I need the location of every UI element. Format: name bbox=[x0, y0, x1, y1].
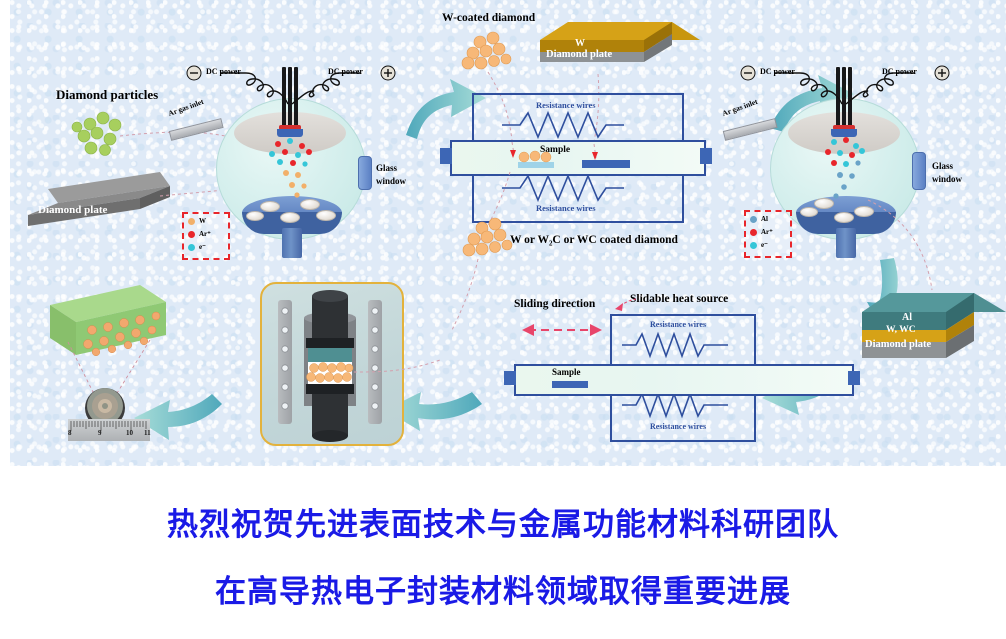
ar-gas-inlet-pipe-right bbox=[723, 118, 778, 141]
ruler bbox=[68, 419, 150, 441]
legend-box-right: Al Ar⁺ e⁻ bbox=[744, 210, 792, 258]
electrode-rod-1-left bbox=[282, 67, 286, 127]
legend-label-right-0: Al bbox=[761, 215, 768, 223]
sample-puck-right-2 bbox=[854, 206, 874, 217]
tube-cap-right-sliding bbox=[848, 371, 860, 385]
legend-item-left-2: e⁻ bbox=[188, 243, 206, 251]
legend-swatch-argon-icon bbox=[188, 231, 195, 238]
sample-puck-right-4 bbox=[800, 207, 818, 217]
diamond-plate-label: Diamond plate bbox=[38, 205, 107, 217]
caption-line-1: 热烈祝贺先进表面技术与金属功能材料科研团队 bbox=[167, 499, 839, 544]
dc-power-label-right-negative: DC power bbox=[760, 68, 795, 76]
sample-label-center: Sample bbox=[540, 146, 570, 156]
electrode-rod-2-right bbox=[842, 67, 846, 127]
glass-window-label-right-line2: window bbox=[932, 175, 962, 184]
arrow-right-to-plate bbox=[867, 258, 907, 334]
diamond-plate-label-right: Diamond plate bbox=[865, 339, 931, 350]
resistance-wires-top-label-sliding: Resistance wires bbox=[650, 320, 706, 329]
w-coated-diamond-label: W-coated diamond bbox=[442, 12, 535, 24]
dc-power-label-left-positive: DC power bbox=[328, 68, 363, 76]
w-wc-layer-label: W, WC bbox=[886, 326, 916, 336]
al-layer-label: Al bbox=[902, 313, 912, 324]
electrode-rod-2-left bbox=[288, 67, 292, 127]
legend-swatch-electron-right-icon bbox=[750, 242, 757, 249]
w-layer-label: W bbox=[575, 39, 585, 50]
electrode-tip-blue-right bbox=[831, 129, 857, 137]
caption-block: 热烈祝贺先进表面技术与金属功能材料科研团队 在高导热电子封装材料领域取得重要进展 bbox=[0, 470, 1006, 639]
dc-power-label-left-negative: DC power bbox=[206, 68, 241, 76]
electrode-rod-3-left bbox=[294, 67, 298, 127]
legend-label-left-0: W bbox=[199, 217, 206, 225]
glass-window-label-left-line1: Glass bbox=[376, 164, 397, 173]
legend-label-right-1: Ar⁺ bbox=[761, 228, 773, 236]
platter-stem-left bbox=[282, 228, 302, 258]
electrode-rod-1-right bbox=[836, 67, 840, 127]
sample-puck-right-3 bbox=[834, 212, 854, 223]
legend-swatch-w-icon bbox=[188, 218, 195, 225]
hot-press-column-left bbox=[278, 300, 292, 424]
diamond-plate-label-center: Diamond plate bbox=[546, 49, 612, 60]
ruler-tick-label-0: 8 bbox=[68, 430, 72, 437]
resistance-wires-top-label-center: Resistance wires bbox=[536, 100, 596, 110]
wc-coated-diamond-label: W or W₂C or WC coated diamond bbox=[510, 234, 678, 246]
sample-puck-right-1 bbox=[814, 198, 834, 209]
legend-label-right-2: e⁻ bbox=[761, 241, 768, 249]
legend-swatch-argon-right-icon bbox=[750, 229, 757, 236]
legend-item-left-1: Ar⁺ bbox=[188, 230, 211, 238]
glass-window-left bbox=[358, 156, 372, 190]
diamond-particles-label: Diamond particles bbox=[56, 88, 158, 102]
electrode-rod-3-right bbox=[848, 67, 852, 127]
electrode-tip-blue-left bbox=[277, 129, 303, 137]
legend-label-left-2: e⁻ bbox=[199, 243, 206, 251]
hot-press-column-right bbox=[368, 300, 382, 424]
ruler-tick-label-2: 10 bbox=[126, 430, 133, 437]
sample-puck-left-5 bbox=[246, 211, 264, 221]
sliding-direction-label: Sliding direction bbox=[514, 298, 595, 310]
legend-box-left: W Ar⁺ e⁻ bbox=[182, 212, 230, 260]
legend-label-left-1: Ar⁺ bbox=[199, 230, 211, 238]
legend-item-right-1: Ar⁺ bbox=[750, 228, 773, 236]
sample-puck-left-1 bbox=[260, 201, 280, 212]
ar-gas-inlet-label-left: Ar gas inlet bbox=[167, 98, 204, 118]
sample-label-sliding: Sample bbox=[552, 368, 581, 377]
glass-window-label-left-line2: window bbox=[376, 177, 406, 186]
ar-gas-inlet-pipe-left bbox=[169, 118, 224, 141]
caption-line-2: 在高导热电子封装材料领域取得重要进展 bbox=[215, 566, 791, 611]
platter-stem-right bbox=[836, 228, 856, 258]
tube-cap-right-center bbox=[700, 148, 712, 164]
legend-item-right-2: e⁻ bbox=[750, 241, 768, 249]
dc-power-label-right-positive: DC power bbox=[882, 68, 917, 76]
process-flow-graphic: Diamond particles Diamond plate bbox=[10, 0, 1006, 466]
sample-puck-left-2 bbox=[300, 199, 320, 210]
glass-window-right bbox=[912, 152, 926, 190]
tube-cap-left-sliding bbox=[504, 371, 516, 385]
slidable-heat-source-label: Slidable heat source bbox=[630, 293, 728, 305]
legend-swatch-electron-icon bbox=[188, 244, 195, 251]
glass-window-label-right-line1: Glass bbox=[932, 162, 953, 171]
ar-gas-inlet-label-right: Ar gas inlet bbox=[721, 98, 758, 118]
legend-item-right-0: Al bbox=[750, 215, 768, 223]
legend-item-left-0: W bbox=[188, 217, 206, 225]
ruler-tick-label-1: 9 bbox=[98, 430, 102, 437]
sample-puck-left-3 bbox=[280, 212, 300, 223]
sample-puck-left-4 bbox=[316, 210, 336, 221]
resistance-wires-bottom-label-sliding: Resistance wires bbox=[650, 422, 706, 431]
furnace-tube-center bbox=[450, 140, 706, 176]
legend-swatch-al-icon bbox=[750, 216, 757, 223]
ruler-tick-label-3: 11 bbox=[144, 430, 151, 437]
resistance-wires-bottom-label-center: Resistance wires bbox=[536, 203, 596, 213]
tube-cap-left-center bbox=[440, 148, 452, 164]
